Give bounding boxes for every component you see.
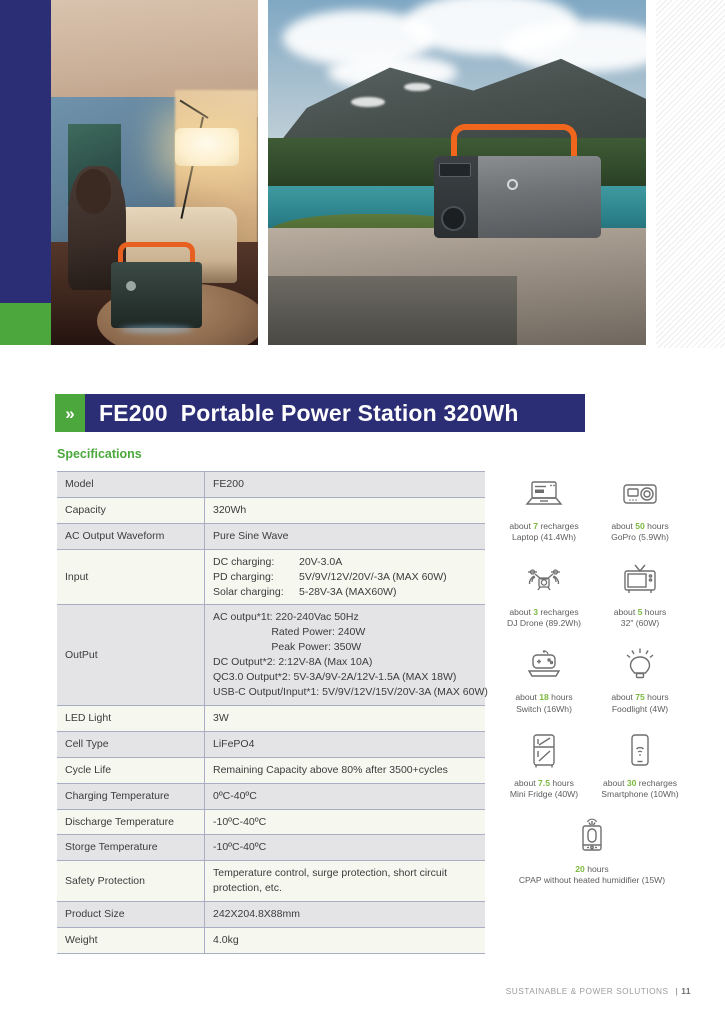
device-runtime: about 30 recharges	[592, 778, 688, 789]
specifications-table: Model FE200 Capacity 320Wh AC Output Wav…	[57, 471, 485, 954]
product-title-banner: » FE200 Portable Power Station 320Wh	[55, 394, 585, 432]
runtime-prefix: about	[603, 778, 627, 788]
input-key: PD charging:	[213, 570, 299, 585]
lightbulb-icon	[592, 643, 688, 687]
input-line: Solar charging: 5-28V-3A (MAX60W)	[213, 585, 477, 600]
spec-value: Remaining Capacity above 80% after 3500+…	[205, 757, 486, 783]
spec-value: -10ºC-40ºC	[205, 835, 486, 861]
table-row: Cell Type LiFePO4	[57, 731, 485, 757]
footer-separator: |	[676, 986, 679, 996]
drone-icon	[496, 558, 592, 602]
person-hair	[76, 169, 111, 214]
page-title: FE200 Portable Power Station 320Wh	[85, 394, 585, 432]
runtime-unit: hours	[585, 864, 609, 874]
input-key: Solar charging:	[213, 585, 299, 600]
device-runtime: 20 hours	[496, 864, 688, 875]
runtime-unit: hours	[642, 607, 666, 617]
device-item: about 5 hours 32" (60W)	[592, 558, 688, 630]
table-row: Safety Protection Temperature control, s…	[57, 861, 485, 902]
cpap-machine-icon	[496, 815, 688, 859]
runtime-unit: recharges	[636, 778, 677, 788]
runtime-prefix: about	[514, 778, 538, 788]
television-icon	[592, 558, 688, 602]
gopro-camera-icon	[592, 472, 688, 516]
spec-value: 4.0kg	[205, 928, 486, 954]
double-chevron-icon: »	[55, 394, 85, 432]
input-val: 5-28V-3A (MAX60W)	[299, 585, 396, 600]
spec-label: Cell Type	[57, 731, 205, 757]
runtime-unit: hours	[645, 692, 669, 702]
spec-value: 3W	[205, 705, 486, 731]
spec-value-input: DC charging: 20V-3.0A PD charging: 5V/9V…	[205, 549, 486, 605]
device-item: about 7 recharges Laptop (41.4Wh)	[496, 472, 592, 544]
device-name: Foodlight (4W)	[592, 704, 688, 715]
device-name: DJ Drone (89.2Wh)	[496, 618, 592, 629]
rock-shadow	[268, 276, 517, 345]
power-station-outdoor	[434, 124, 600, 238]
input-line: PD charging: 5V/9V/12V/20V/-3A (MAX 60W)	[213, 570, 477, 585]
spec-label: LED Light	[57, 705, 205, 731]
title-name: Portable Power Station 320Wh	[181, 400, 519, 427]
input-line: DC charging: 20V-3.0A	[213, 555, 477, 570]
table-row: Product Size 242X204.8X88mm	[57, 902, 485, 928]
spec-value: Temperature control, surge protection, s…	[205, 861, 486, 902]
spec-value: LiFePO4	[205, 731, 486, 757]
spec-value: 0ºC-40ºC	[205, 783, 486, 809]
green-accent-block	[0, 303, 51, 345]
hero-banner	[0, 0, 725, 348]
runtime-unit: hours	[550, 778, 574, 788]
spec-label: Model	[57, 472, 205, 498]
input-key: DC charging:	[213, 555, 299, 570]
runtime-amount: 50	[635, 521, 645, 531]
diagonal-stripe-decoration	[656, 0, 725, 348]
device-name: Mini Fridge (40W)	[496, 789, 592, 800]
device-item: about 50 hours GoPro (5.9Wh)	[592, 472, 688, 544]
outdoor-lifestyle-photo	[268, 0, 646, 345]
indoor-lifestyle-photo	[51, 0, 258, 345]
device-runtime: about 75 hours	[592, 692, 688, 703]
device-name: Smartphone (10Wh)	[592, 789, 688, 800]
device-name: Laptop (41.4Wh)	[496, 532, 592, 543]
device-runtime: about 7 recharges	[496, 521, 592, 532]
spec-value: -10ºC-40ºC	[205, 809, 486, 835]
table-row: Storge Temperature -10ºC-40ºC	[57, 835, 485, 861]
spec-value: 320Wh	[205, 497, 486, 523]
device-runtime: about 3 recharges	[496, 607, 592, 618]
navy-accent-block	[0, 0, 51, 303]
title-model: FE200	[99, 400, 168, 427]
runtime-unit: hours	[549, 692, 573, 702]
device-name: 32" (60W)	[592, 618, 688, 629]
table-row: Discharge Temperature -10ºC-40ºC	[57, 809, 485, 835]
runtime-prefix: about	[611, 521, 635, 531]
spec-label: OutPut	[57, 605, 205, 705]
spec-label: Input	[57, 549, 205, 605]
spec-label: Weight	[57, 928, 205, 954]
table-row: Model FE200	[57, 472, 485, 498]
page-footer: SUSTAINABLE & POWER SOLUTIONS|11	[0, 986, 725, 996]
runtime-amount: 18	[539, 692, 549, 702]
power-station-indoor	[111, 242, 202, 328]
runtime-unit: recharges	[538, 521, 579, 531]
runtime-prefix: about	[509, 607, 533, 617]
table-row: Weight 4.0kg	[57, 928, 485, 954]
runtime-prefix: about	[515, 692, 539, 702]
table-row: OutPut AC outpu*1t: 220-240Vac 50Hz Rate…	[57, 605, 485, 705]
device-item: about 75 hours Foodlight (4W)	[592, 643, 688, 715]
runtime-prefix: about	[509, 521, 533, 531]
game-controller-icon	[496, 643, 592, 687]
snow-patch	[351, 97, 385, 107]
snow-patch	[404, 83, 430, 91]
runtime-amount: 30	[627, 778, 637, 788]
page-number: 11	[681, 986, 691, 996]
spec-label: Product Size	[57, 902, 205, 928]
spec-label: Discharge Temperature	[57, 809, 205, 835]
table-row: Charging Temperature 0ºC-40ºC	[57, 783, 485, 809]
runtime-unit: recharges	[538, 607, 579, 617]
table-row: Capacity 320Wh	[57, 497, 485, 523]
display-screen	[439, 163, 471, 177]
lamp-shade	[175, 128, 239, 166]
device-item: 20 hours CPAP without heated humidifier …	[496, 815, 688, 887]
runtime-amount: 7.5	[538, 778, 550, 788]
input-val: 5V/9V/12V/20V/-3A (MAX 60W)	[299, 570, 447, 585]
mini-fridge-icon	[496, 729, 592, 773]
device-name: Switch (16Wh)	[496, 704, 592, 715]
spec-value: 242X204.8X88mm	[205, 902, 486, 928]
table-row: Cycle Life Remaining Capacity above 80% …	[57, 757, 485, 783]
device-item: about 30 recharges Smartphone (10Wh)	[592, 729, 688, 801]
runtime-unit: hours	[645, 521, 669, 531]
device-runtime: about 5 hours	[592, 607, 688, 618]
smartphone-icon	[592, 729, 688, 773]
runtime-prefix: about	[614, 607, 638, 617]
spec-label: Safety Protection	[57, 861, 205, 902]
device-runtime: about 7.5 hours	[496, 778, 592, 789]
spec-label: Storge Temperature	[57, 835, 205, 861]
device-runtime-grid: about 7 recharges Laptop (41.4Wh) about …	[496, 472, 688, 900]
brand-logo-mark	[126, 281, 136, 291]
runtime-prefix: about	[611, 692, 635, 702]
spec-label: Charging Temperature	[57, 783, 205, 809]
table-row: AC Output Waveform Pure Sine Wave	[57, 523, 485, 549]
laptop-icon	[496, 472, 592, 516]
device-item: about 18 hours Switch (16Wh)	[496, 643, 592, 715]
spec-value: AC outpu*1t: 220-240Vac 50Hz Rated Power…	[205, 605, 486, 705]
device-name: CPAP without heated humidifier (15W)	[496, 875, 688, 886]
footer-brand: SUSTAINABLE & POWER SOLUTIONS	[506, 986, 669, 996]
spec-value: FE200	[205, 472, 486, 498]
ac-socket	[441, 206, 466, 231]
runtime-amount: 20	[575, 864, 585, 874]
table-row: Input DC charging: 20V-3.0A PD charging:…	[57, 549, 485, 605]
station-body	[111, 262, 202, 328]
spec-value: Pure Sine Wave	[205, 523, 486, 549]
specifications-heading: Specifications	[57, 447, 142, 461]
runtime-amount: 75	[635, 692, 645, 702]
device-item: about 7.5 hours Mini Fridge (40W)	[496, 729, 592, 801]
device-name: GoPro (5.9Wh)	[592, 532, 688, 543]
input-val: 20V-3.0A	[299, 555, 342, 570]
device-runtime: about 18 hours	[496, 692, 592, 703]
device-item: about 3 recharges DJ Drone (89.2Wh)	[496, 558, 592, 630]
spec-label: AC Output Waveform	[57, 523, 205, 549]
led-glow	[120, 326, 193, 333]
spec-label: Capacity	[57, 497, 205, 523]
spec-label: Cycle Life	[57, 757, 205, 783]
table-row: LED Light 3W	[57, 705, 485, 731]
device-runtime: about 50 hours	[592, 521, 688, 532]
